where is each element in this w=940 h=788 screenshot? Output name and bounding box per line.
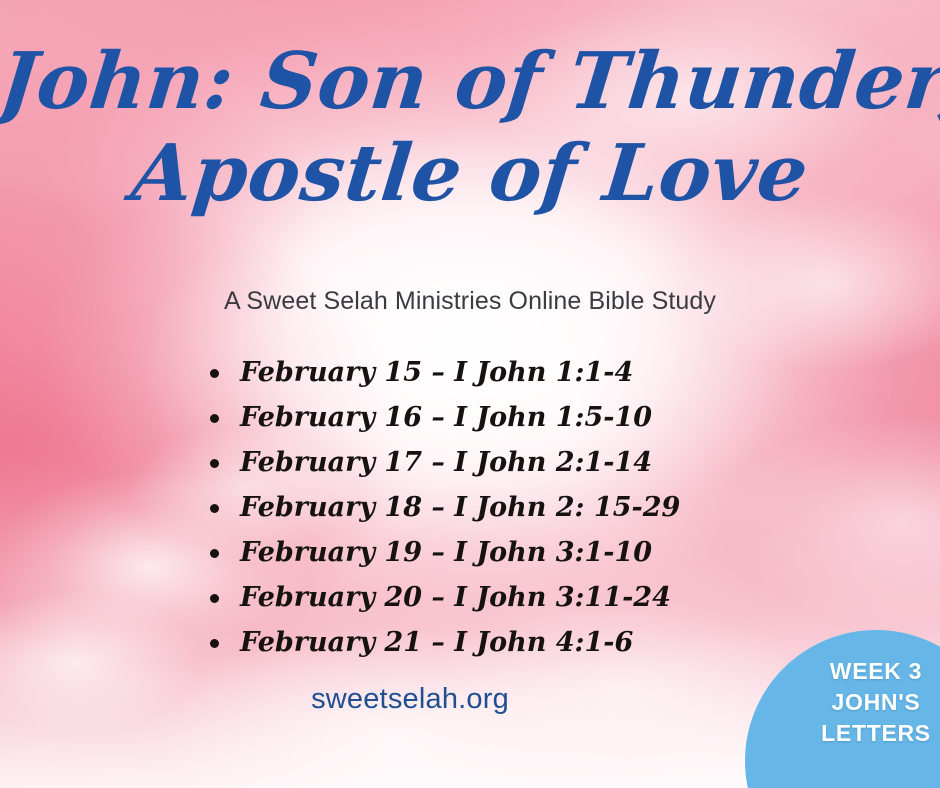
schedule-entry-text: February 17 – I John 2:1-14 (240, 447, 652, 478)
list-item: February 16 – I John 1:5-10 (208, 395, 808, 440)
bullet-icon (210, 594, 219, 603)
list-item: February 20 – I John 3:11-24 (208, 575, 808, 620)
badge-week-label: WEEK 3 (830, 656, 922, 687)
bullet-icon (210, 459, 219, 468)
list-item: February 18 – I John 2: 15-29 (208, 485, 808, 530)
bullet-icon (210, 549, 219, 558)
list-item: February 19 – I John 3:1-10 (208, 530, 808, 575)
title-line-1: John: Son of Thunder, (0, 36, 940, 128)
bullet-icon (210, 369, 219, 378)
list-item: February 17 – I John 2:1-14 (208, 440, 808, 485)
schedule-entry-text: February 15 – I John 1:1-4 (240, 357, 633, 388)
schedule-entry-text: February 19 – I John 3:1-10 (240, 537, 652, 568)
schedule-entry-text: February 16 – I John 1:5-10 (240, 402, 652, 433)
schedule-entry-text: February 21 – I John 4:1-6 (240, 627, 633, 658)
title-line-2: Apostle of Love (0, 128, 940, 220)
page-title: John: Son of Thunder, Apostle of Love (0, 36, 940, 220)
subtitle: A Sweet Selah Ministries Online Bible St… (0, 287, 940, 316)
bible-study-poster: John: Son of Thunder, Apostle of Love A … (0, 0, 940, 788)
list-item: February 15 – I John 1:1-4 (208, 350, 808, 395)
schedule-list: February 15 – I John 1:1-4 February 16 –… (208, 350, 808, 665)
badge-topic-label: LETTERS (821, 718, 931, 749)
bullet-icon (210, 414, 219, 423)
schedule-entry-text: February 20 – I John 3:11-24 (240, 582, 671, 613)
bullet-icon (210, 504, 219, 513)
poster-content: John: Son of Thunder, Apostle of Love A … (0, 0, 940, 788)
badge-book-label: JOHN'S (832, 687, 921, 718)
list-item: February 21 – I John 4:1-6 (208, 620, 808, 665)
schedule-entry-text: February 18 – I John 2: 15-29 (240, 492, 680, 523)
bullet-icon (210, 639, 219, 648)
